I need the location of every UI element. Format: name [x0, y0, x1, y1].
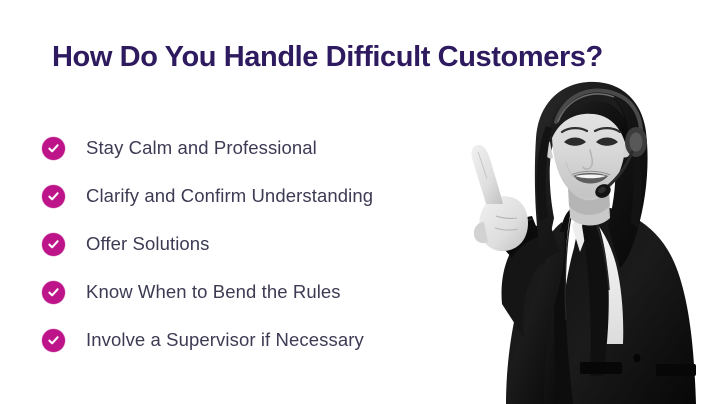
list-item: Know When to Bend the Rules	[42, 268, 462, 316]
page-title: How Do You Handle Difficult Customers?	[52, 41, 692, 74]
check-circle-icon	[42, 329, 65, 352]
list-item: Clarify and Confirm Understanding	[42, 172, 462, 220]
customer-service-agent-photo	[440, 76, 720, 404]
list-item: Offer Solutions	[42, 220, 462, 268]
list-item-label: Clarify and Confirm Understanding	[86, 185, 373, 207]
list-item: Involve a Supervisor if Necessary	[42, 316, 462, 364]
check-circle-icon	[42, 281, 65, 304]
list-item-label: Offer Solutions	[86, 233, 210, 255]
list-item-label: Stay Calm and Professional	[86, 137, 317, 159]
check-circle-icon	[42, 137, 65, 160]
check-circle-icon	[42, 185, 65, 208]
benefits-list: Stay Calm and Professional Clarify and C…	[42, 124, 462, 364]
list-item-label: Involve a Supervisor if Necessary	[86, 329, 364, 351]
check-circle-icon	[42, 233, 65, 256]
slide-canvas: How Do You Handle Difficult Customers? S…	[0, 0, 720, 404]
list-item: Stay Calm and Professional	[42, 124, 462, 172]
list-item-label: Know When to Bend the Rules	[86, 281, 341, 303]
